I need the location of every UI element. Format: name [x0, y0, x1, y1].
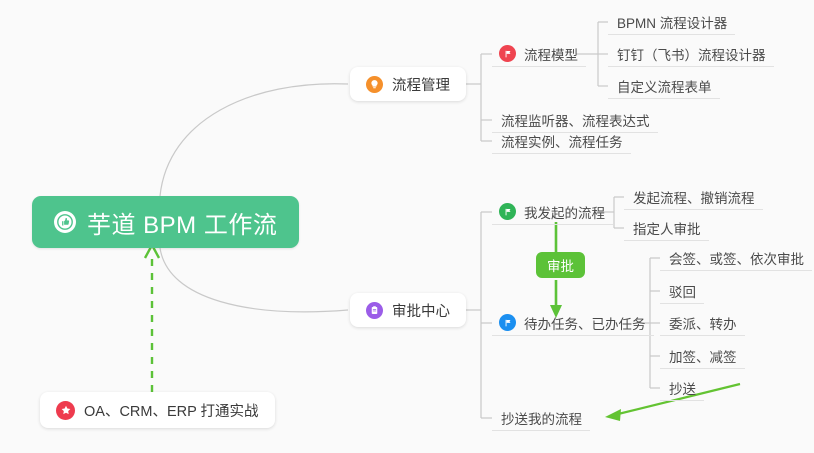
root-label: 芋道 BPM 工作流: [87, 205, 277, 240]
node-label: 流程模型: [524, 44, 578, 64]
node-my-started-process[interactable]: 我发起的流程: [492, 199, 613, 225]
leaf-label: 流程监听器、流程表达式: [501, 110, 650, 130]
integration-dashed-arrow: [145, 245, 159, 392]
leaf-label: 委派、转办: [669, 313, 737, 333]
leaf-assignee-approval[interactable]: 指定人审批: [624, 215, 709, 241]
leaf-cc-to-me-process[interactable]: 抄送我的流程: [492, 405, 590, 431]
leaf-label: 抄送: [669, 378, 696, 398]
leaf-dingtalk-feishu-designer[interactable]: 钉钉（飞书）流程设计器: [608, 41, 774, 67]
leaf-reject[interactable]: 驳回: [660, 278, 704, 304]
card-integration-practice[interactable]: OA、CRM、ERP 打通实战: [40, 392, 275, 428]
mindmap-canvas: 芋道 BPM 工作流 流程管理 流程模型 BPMN 流程设计器 钉钉（飞书）流程…: [0, 0, 814, 453]
leaf-delegate-transfer[interactable]: 委派、转办: [660, 310, 745, 336]
leaf-start-cancel-process[interactable]: 发起流程、撤销流程: [624, 184, 763, 210]
flag-icon: [499, 203, 516, 220]
star-icon: [56, 401, 75, 420]
leaf-label: BPMN 流程设计器: [617, 12, 727, 32]
leaf-label: 流程实例、流程任务: [501, 131, 623, 151]
flag-icon: [499, 45, 516, 62]
leaf-label: 钉钉（飞书）流程设计器: [617, 44, 766, 64]
clipboard-icon: [366, 302, 383, 319]
callout-label: 审批: [547, 255, 574, 275]
leaf-add-remove-sign[interactable]: 加签、减签: [660, 343, 745, 369]
leaf-label: 驳回: [669, 281, 696, 301]
lightbulb-icon: [366, 76, 383, 93]
node-todo-done-task[interactable]: 待办任务、已办任务: [492, 310, 654, 336]
root-node[interactable]: 芋道 BPM 工作流: [32, 196, 299, 248]
thumbs-up-icon: [54, 211, 76, 233]
leaf-countersign[interactable]: 会签、或签、依次审批: [660, 245, 812, 271]
branch-label: 审批中心: [392, 300, 450, 321]
node-label: 待办任务、已办任务: [524, 313, 646, 333]
leaf-bpmn-designer[interactable]: BPMN 流程设计器: [608, 9, 735, 35]
leaf-instance-task[interactable]: 流程实例、流程任务: [492, 128, 631, 154]
node-process-model[interactable]: 流程模型: [492, 41, 586, 67]
leaf-label: 加签、减签: [669, 346, 737, 366]
node-label: 我发起的流程: [524, 202, 605, 222]
branch-label: 流程管理: [392, 74, 450, 95]
branch-approval-center[interactable]: 审批中心: [350, 293, 466, 327]
card-label: OA、CRM、ERP 打通实战: [84, 400, 259, 421]
callout-approval-tag: 审批: [536, 252, 585, 278]
leaf-label: 发起流程、撤销流程: [633, 187, 755, 207]
leaf-label: 指定人审批: [633, 218, 701, 238]
leaf-label: 会签、或签、依次审批: [669, 248, 804, 268]
leaf-custom-process-form[interactable]: 自定义流程表单: [608, 73, 720, 99]
branch-process-management[interactable]: 流程管理: [350, 67, 466, 101]
flag-icon: [499, 314, 516, 331]
leaf-label: 抄送我的流程: [501, 408, 582, 428]
leaf-label: 自定义流程表单: [617, 76, 712, 96]
leaf-cc[interactable]: 抄送: [660, 375, 704, 401]
